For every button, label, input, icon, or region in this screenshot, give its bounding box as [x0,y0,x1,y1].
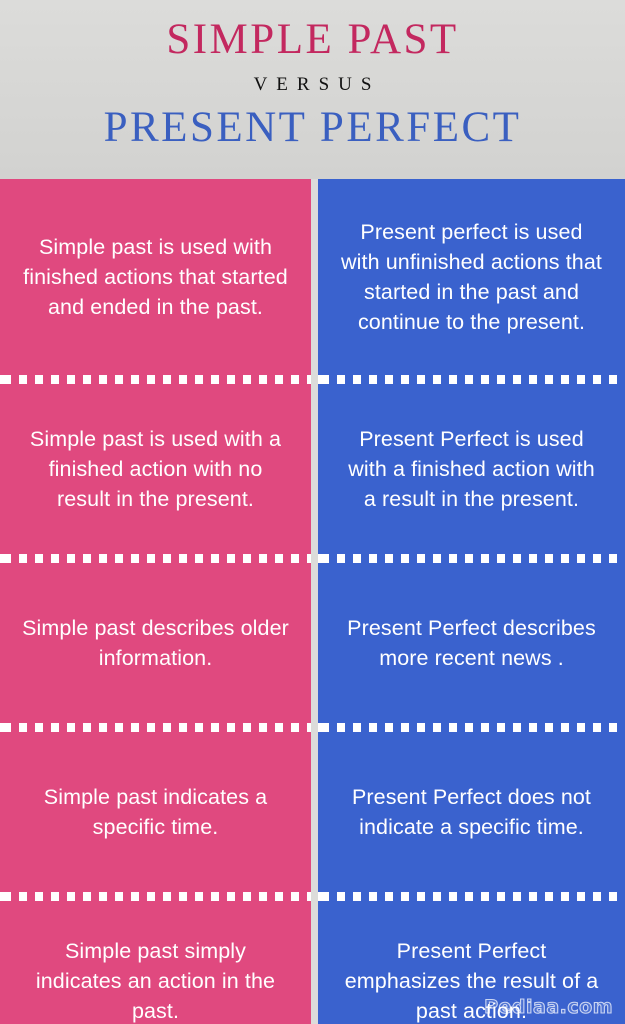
cell-text: Simple past is used with finished action… [22,232,289,322]
cell-text: Present Perfect does not indicate a spec… [340,782,603,842]
cell-text: Simple past indicates a specific time. [22,782,289,842]
column-separator [311,179,318,1024]
table-row: Simple past simply indicates an action i… [0,901,311,1024]
table-row: Present Perfect is used with a finished … [318,384,625,554]
cell-text: Present Perfect emphasizes the result of… [340,936,603,1024]
table-row: Present perfect is used with unfinished … [318,179,625,375]
infographic-root: SIMPLE PAST VERSUS PRESENT PERFECT Simpl… [0,0,625,1024]
title-versus: VERSUS [245,70,381,100]
cell-text: Present Perfect describes more recent ne… [340,613,603,673]
row-divider [0,723,311,732]
comparison-table: Simple past is used with finished action… [0,179,625,1024]
row-divider [318,554,625,563]
row-divider [0,892,311,901]
cell-text: Present perfect is used with unfinished … [340,217,603,337]
row-divider [318,723,625,732]
cell-text: Present Perfect is used with a finished … [340,424,603,514]
table-row: Simple past describes older information. [0,563,311,723]
cell-text: Simple past simply indicates an action i… [22,936,289,1024]
column-simple-past: Simple past is used with finished action… [0,179,311,1024]
title-simple-past: SIMPLE PAST [166,14,458,66]
row-divider [0,375,311,384]
cell-text: Simple past describes older information. [22,613,289,673]
row-divider [318,375,625,384]
cell-text: Simple past is used with a finished acti… [22,424,289,514]
table-row: Simple past is used with a finished acti… [0,384,311,554]
header-banner: SIMPLE PAST VERSUS PRESENT PERFECT [0,0,625,179]
table-row: Simple past is used with finished action… [0,179,311,375]
column-present-perfect: Present perfect is used with unfinished … [318,179,625,1024]
row-divider [318,892,625,901]
table-row: Simple past indicates a specific time. [0,732,311,892]
row-divider [0,554,311,563]
table-row: Present Perfect does not indicate a spec… [318,732,625,892]
table-row: Present Perfect describes more recent ne… [318,563,625,723]
title-present-perfect: PRESENT PERFECT [104,102,522,154]
table-row: Present Perfect emphasizes the result of… [318,901,625,1024]
